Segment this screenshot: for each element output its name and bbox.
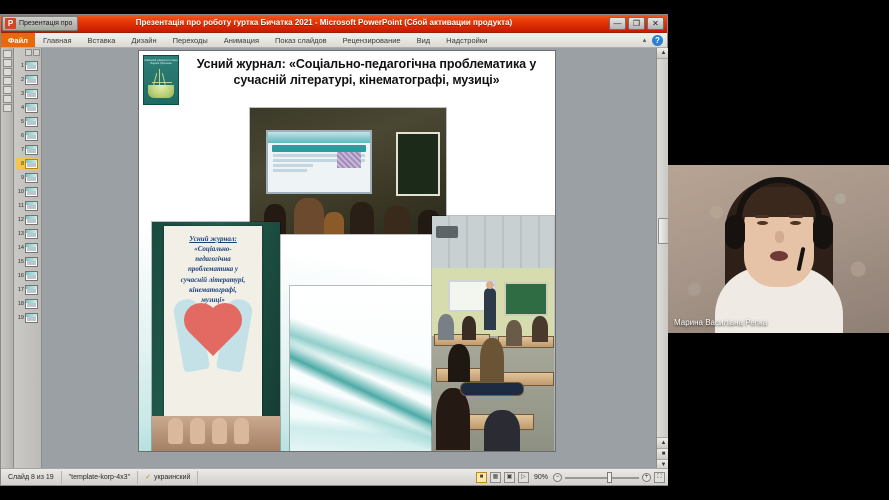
headphone-cup-left-icon (725, 215, 745, 249)
photo1-projection-screen (266, 130, 372, 194)
slide-panel-tabs (16, 49, 40, 58)
participant-eye-left (757, 221, 768, 225)
restore-button[interactable]: ❐ (628, 17, 645, 30)
slide-thumbnail-number: 17 (17, 287, 24, 293)
photo4-teacher (484, 288, 496, 330)
poster-line-7: музиці» (169, 295, 257, 305)
slide-thumbnail-15[interactable]: 15 (16, 256, 39, 268)
close-button[interactable]: ✕ (647, 17, 664, 30)
screen-share-view: P Презентація про Презентація про роботу… (0, 0, 889, 500)
poster-text: Усний журнал: «Соціально- педагогічна пр… (169, 234, 257, 305)
slide-thumbnail-11[interactable]: 11 (16, 200, 39, 212)
slide-thumbnail-18[interactable]: 18 (16, 298, 39, 310)
slide-thumbnail-8[interactable]: 8 (16, 158, 39, 170)
tab-addins[interactable]: Надстройки (438, 33, 495, 47)
slide-thumbnail-preview[interactable] (25, 103, 38, 113)
minimize-button[interactable]: — (609, 17, 626, 30)
university-emblem-icon: Київський університет імені Бориса Грінч… (143, 55, 179, 105)
photo-teal-template[interactable] (289, 285, 434, 452)
tool-icon-3[interactable] (3, 68, 12, 76)
tool-icon-2[interactable] (3, 59, 12, 67)
window-controls: — ❐ ✕ (609, 17, 664, 30)
slide-counter: Слайд 8 из 19 (1, 471, 62, 484)
slide-thumbnail-number: 15 (17, 259, 24, 265)
tool-icon-6[interactable] (3, 95, 12, 103)
headphone-cup-right-icon (813, 215, 833, 249)
tab-insert[interactable]: Вставка (80, 33, 124, 47)
slide-thumbnail-number: 11 (17, 203, 24, 209)
slide-thumbnail-preview[interactable] (25, 201, 38, 211)
participant-eye-right (790, 221, 801, 225)
photo4-ceiling (432, 216, 554, 268)
slide-thumbnail-16[interactable]: 16 (16, 270, 39, 282)
photo4-student (462, 316, 476, 340)
status-bar: Слайд 8 из 19 "template-korp-4x3" ✓ укра… (1, 468, 669, 485)
photo4-student (436, 388, 470, 450)
slide-thumbnail-preview[interactable] (25, 299, 38, 309)
slide-thumbnail-5[interactable]: 5 (16, 116, 39, 128)
ribbon-right-controls: ▴ ? (640, 33, 667, 47)
window-title: Презентація про роботу гуртка Бичатка 20… (1, 18, 667, 27)
slide-thumbnail-preview[interactable] (25, 271, 38, 281)
photo2-holding-hand (152, 416, 280, 452)
status-bar-right: ■ ▦ ▣ ▷ 90% − + ⛶ (476, 472, 669, 483)
emblem-caption: Київський університет імені Бориса Грінч… (144, 56, 178, 65)
powerpoint-window: P Презентація про Презентація про роботу… (0, 14, 668, 486)
photo4-greenboard (504, 282, 548, 316)
slide-thumbnail-6[interactable]: 6 (16, 130, 39, 142)
slide-thumbnail-preview[interactable] (25, 61, 38, 71)
slide-thumbnail-number: 19 (17, 315, 24, 321)
slide-thumbnail-preview[interactable] (25, 145, 38, 155)
slide-thumbnail-number: 6 (17, 133, 24, 139)
photo-classroom-students[interactable] (431, 215, 555, 452)
language-label: украинский (154, 474, 191, 481)
slide-thumbnail-preview[interactable] (25, 173, 38, 183)
zoom-in-button[interactable]: + (642, 473, 651, 482)
photo4-student (438, 314, 454, 340)
help-icon[interactable]: ? (652, 35, 663, 46)
photo4-student (484, 410, 520, 452)
slide-thumbnail-preview[interactable] (25, 159, 38, 169)
slide-thumbnail-number: 13 (17, 231, 24, 237)
tab-transitions[interactable]: Переходы (165, 33, 216, 47)
slide-thumbnail-number: 3 (17, 91, 24, 97)
emblem-book-icon (148, 85, 174, 98)
poster-line-1: Усний журнал: (169, 234, 257, 244)
zoom-level: 90% (532, 474, 550, 481)
poster-line-2: «Соціально- (169, 244, 257, 254)
participant-video-tile[interactable]: Марина Василівна Репка (668, 165, 889, 333)
participant-nose (775, 231, 784, 243)
slide-thumbnail-number: 14 (17, 245, 24, 251)
window-titlebar: P Презентація про Презентація про роботу… (1, 15, 667, 33)
slide-thumbnail-preview[interactable] (25, 257, 38, 267)
tab-view[interactable]: Вид (409, 33, 439, 47)
slide-thumbnail-panel[interactable]: 12345678910111213141516171819 (14, 48, 42, 470)
slide-thumbnail-10[interactable]: 10 (16, 186, 39, 198)
tool-icon-1[interactable] (3, 50, 12, 58)
slide-sorter-icon[interactable]: ▦ (490, 472, 501, 483)
language-status[interactable]: ✓ украинский (138, 471, 198, 484)
slide-thumbnail-number: 12 (17, 217, 24, 223)
zoom-slider[interactable] (565, 472, 639, 483)
slide-stage: Київський університет імені Бориса Грінч… (42, 48, 669, 470)
slide-thumbnail-preview[interactable] (25, 285, 38, 295)
slide-thumbnail-preview[interactable] (25, 215, 38, 225)
slide-thumbnail-number: 4 (17, 105, 24, 111)
photo-handwritten-poster[interactable]: Усний журнал: «Соціально- педагогічна пр… (151, 221, 281, 452)
reading-view-icon[interactable]: ▣ (504, 472, 515, 483)
slide-thumbnail-preview[interactable] (25, 229, 38, 239)
tab-design[interactable]: Дизайн (123, 33, 164, 47)
photo4-student (448, 344, 470, 382)
tab-file[interactable]: Файл (1, 33, 35, 47)
slide-thumbnail-preview[interactable] (25, 187, 38, 197)
slide-thumbnail-number: 9 (17, 175, 24, 181)
photo-lecture-projector[interactable] (249, 107, 447, 235)
slide-thumbnail-number: 10 (17, 189, 24, 195)
tab-animations[interactable]: Анимация (216, 33, 267, 47)
slide-thumbnail-preview[interactable] (25, 117, 38, 127)
spellcheck-icon: ✓ (145, 473, 151, 481)
poster-line-6: кінематографі, (169, 285, 257, 295)
fit-slide-icon[interactable]: ⛶ (654, 472, 665, 483)
current-slide[interactable]: Київський університет імені Бориса Грінч… (138, 50, 556, 452)
participant-mouth (770, 251, 788, 261)
slide-thumbnail-4[interactable]: 4 (16, 102, 39, 114)
slideshow-icon[interactable]: ▷ (518, 472, 529, 483)
slide-thumbnail-number: 18 (17, 301, 24, 307)
photo4-student (480, 338, 504, 382)
tab-review[interactable]: Рецензирование (335, 33, 409, 47)
slide-thumbnail-17[interactable]: 17 (16, 284, 39, 296)
photo3-backdrop (290, 286, 433, 452)
left-tool-strip (1, 48, 14, 470)
slide-thumbnail-number: 8 (17, 161, 24, 167)
collapse-ribbon-icon[interactable]: ▴ (640, 36, 649, 45)
editor-work-area: 12345678910111213141516171819 Київський … (1, 48, 669, 470)
tool-icon-4[interactable] (3, 77, 12, 85)
slide-thumbnail-preview[interactable] (25, 243, 38, 253)
slide-thumbnail-19[interactable]: 19 (16, 312, 39, 324)
slide-thumbnail-preview[interactable] (25, 313, 38, 323)
slide-thumbnail-number: 16 (17, 273, 24, 279)
photo4-student (506, 320, 522, 346)
slide-thumbnail-preview[interactable] (25, 89, 38, 99)
ribbon-tabs: Файл Главная Вставка Дизайн Переходы Ани… (1, 33, 667, 48)
outline-tab-icon[interactable] (33, 49, 40, 56)
slide-thumbnail-preview[interactable] (25, 75, 38, 85)
photo1-blackboard (396, 132, 440, 196)
poster-line-4: проблематика у (169, 264, 257, 274)
slide-thumbnail-9[interactable]: 9 (16, 172, 39, 184)
photo4-student (532, 316, 548, 342)
slide-thumbnail-13[interactable]: 13 (16, 228, 39, 240)
photo4-projector (436, 226, 458, 238)
slide-thumbnail-1[interactable]: 1 (16, 60, 39, 72)
slide-header: Київський університет імені Бориса Грінч… (143, 55, 549, 105)
slide-thumbnail-7[interactable]: 7 (16, 144, 39, 156)
poster-line-3: педагогічна (169, 254, 257, 264)
poster-line-5: сучасній літературі, (169, 275, 257, 285)
tool-icon-5[interactable] (3, 86, 12, 94)
photo2-poster-paper: Усний журнал: «Соціально- педагогічна пр… (164, 226, 262, 418)
slide-thumbnail-preview[interactable] (25, 131, 38, 141)
tab-home[interactable]: Главная (35, 33, 80, 47)
theme-name[interactable]: "template-korp-4x3" (62, 471, 138, 484)
slide-thumbnail-14[interactable]: 14 (16, 242, 39, 254)
tab-slideshow[interactable]: Показ слайдов (267, 33, 335, 47)
slide-thumbnail-number: 1 (17, 63, 24, 69)
slides-tab-icon[interactable] (25, 49, 32, 56)
participant-name-label: Марина Василівна Репка (674, 318, 767, 327)
slide-thumbnail-number: 5 (17, 119, 24, 125)
slide-thumbnail-12[interactable]: 12 (16, 214, 39, 226)
video-panel: Марина Василівна Репка (668, 0, 889, 500)
slide-thumbnail-3[interactable]: 3 (16, 88, 39, 100)
slide-thumbnail-number: 7 (17, 147, 24, 153)
zoom-out-button[interactable]: − (553, 473, 562, 482)
photo4-backpack (460, 382, 524, 396)
normal-view-icon[interactable]: ■ (476, 472, 487, 483)
slide-thumbnail-2[interactable]: 2 (16, 74, 39, 86)
slide-thumbnail-number: 2 (17, 77, 24, 83)
slide-title[interactable]: Усний журнал: «Соціально-педагогічна про… (184, 55, 549, 89)
tool-icon-7[interactable] (3, 104, 12, 112)
